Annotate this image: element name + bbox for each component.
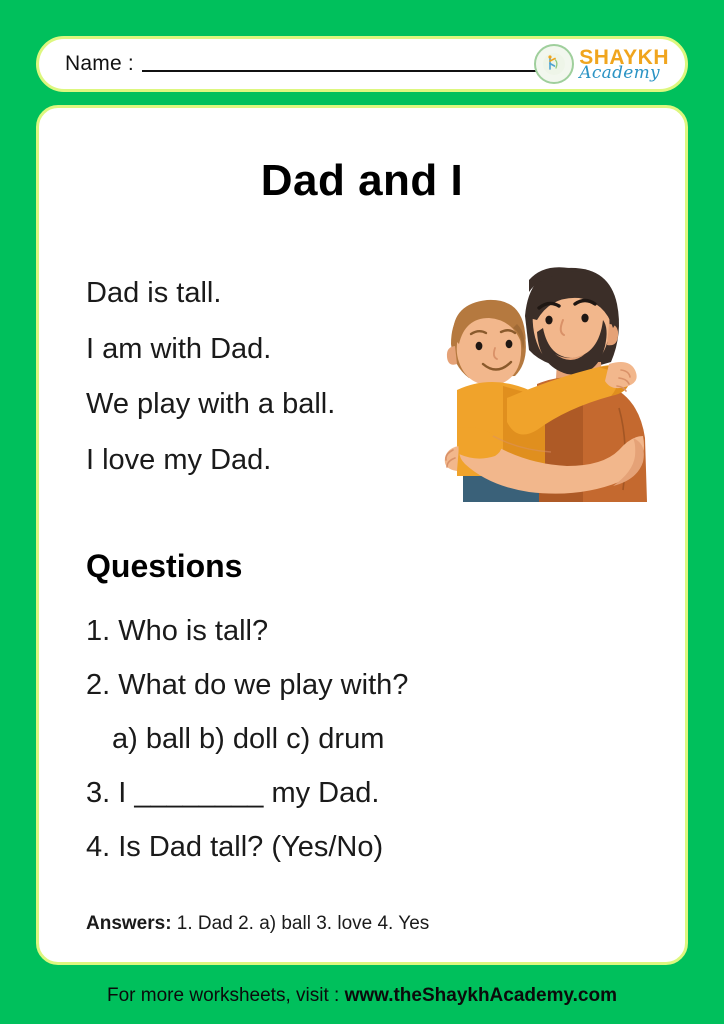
question-item-yes-no[interactable]: 4. Is Dad tall? (Yes/No) <box>86 821 646 875</box>
answers-label: Answers: <box>86 913 172 934</box>
story-text: Dad is tall. I am with Dad. We play with… <box>86 266 456 489</box>
answers-line: Answers: 1. Dad 2. a) ball 3. love 4. Ye… <box>86 913 429 935</box>
question-choices[interactable]: a) ball b) doll c) drum <box>86 713 646 767</box>
name-input-line[interactable] <box>142 70 542 72</box>
father-and-son-hug-illustration <box>433 258 655 510</box>
footer: For more worksheets, visit : www.theShay… <box>0 985 724 1007</box>
brand-logo: SHAYKH Academy <box>534 44 669 84</box>
logo-sub-text: Academy <box>579 65 669 82</box>
story-line: I am with Dad. <box>86 322 456 378</box>
footer-prefix: For more worksheets, visit : <box>107 985 345 1006</box>
story-line: I love my Dad. <box>86 433 456 489</box>
story-line: Dad is tall. <box>86 266 456 322</box>
questions-list: 1. Who is tall? 2. What do we play with?… <box>86 605 646 875</box>
name-field-card: Name : SHAYKH Academy <box>36 36 688 92</box>
question-item-fill-blank[interactable]: 3. I ________ my Dad. <box>86 767 646 821</box>
worksheet-card: Dad and I Dad is tall. I am with Dad. We… <box>36 105 688 965</box>
footer-url[interactable]: www.theShaykhAcademy.com <box>345 985 617 1006</box>
story-line: We play with a ball. <box>86 377 456 433</box>
question-item: 1. Who is tall? <box>86 605 646 659</box>
logo-wordmark: SHAYKH Academy <box>579 47 669 82</box>
questions-heading: Questions <box>86 548 242 585</box>
page-title: Dad and I <box>39 156 685 206</box>
worksheet-page: Name : SHAYKH Academy Dad and I <box>0 0 724 1024</box>
question-item: 2. What do we play with? <box>86 659 646 713</box>
answers-text: 1. Dad 2. a) ball 3. love 4. Yes <box>172 913 430 934</box>
name-label: Name : <box>65 52 134 76</box>
shaykh-academy-badge-icon <box>534 44 574 84</box>
